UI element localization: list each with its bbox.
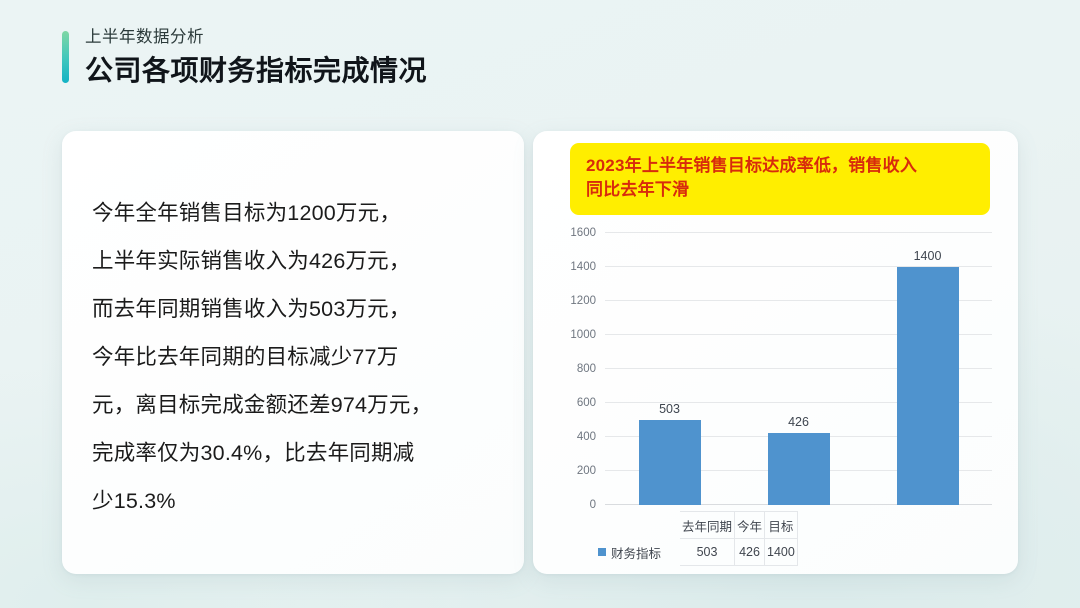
chart-data-table: 去年同期今年目标财务指标5034261400	[595, 511, 798, 566]
y-axis-tick-label: 200	[577, 465, 596, 477]
bar-value-label: 503	[659, 402, 680, 416]
bar-slot: 503	[605, 233, 734, 505]
table-cell: 426	[735, 539, 765, 566]
y-axis-tick-label: 800	[577, 363, 596, 375]
y-axis-tick-label: 1200	[570, 295, 596, 307]
callout-banner: 2023年上半年销售目标达成率低，销售收入 同比去年下滑	[570, 143, 990, 215]
y-axis-tick-label: 1000	[570, 329, 596, 341]
accent-bar-icon	[62, 31, 69, 83]
table-cell: 1400	[765, 539, 798, 566]
page-eyebrow: 上半年数据分析	[85, 28, 427, 48]
chart-plot-area: 02004006008001000120014001600 5034261400	[605, 233, 992, 505]
table-column-header: 今年	[735, 512, 765, 539]
y-axis-tick-label: 400	[577, 431, 596, 443]
y-axis-tick-label: 600	[577, 397, 596, 409]
chart-bars: 5034261400	[605, 233, 992, 505]
chart-card: 2023年上半年销售目标达成率低，销售收入 同比去年下滑 02004006008…	[533, 131, 1018, 574]
table-row: 财务指标5034261400	[596, 539, 798, 566]
y-axis-tick-label: 1400	[570, 261, 596, 273]
page-title: 公司各项财务指标完成情况	[85, 55, 427, 87]
legend-swatch-icon	[598, 548, 606, 556]
table-header-row: 去年同期今年目标	[596, 512, 798, 539]
page-header: 上半年数据分析 公司各项财务指标完成情况	[62, 28, 427, 87]
chart-bar[interactable]	[768, 433, 830, 505]
bar-slot: 1400	[863, 233, 992, 505]
header-text-group: 上半年数据分析 公司各项财务指标完成情况	[85, 28, 427, 87]
table-series-legend[interactable]: 财务指标	[596, 539, 680, 566]
bar-chart: 02004006008001000120014001600 5034261400…	[533, 227, 1018, 574]
bar-slot: 426	[734, 233, 863, 505]
bar-value-label: 1400	[914, 249, 942, 263]
table-cell: 503	[680, 539, 735, 566]
y-axis-tick-label: 1600	[570, 227, 596, 239]
bar-value-label: 426	[788, 415, 809, 429]
table-column-header: 去年同期	[680, 512, 735, 539]
table-column-header: 目标	[765, 512, 798, 539]
summary-text-card: 今年全年销售目标为1200万元， 上半年实际销售收入为426万元， 而去年同期销…	[62, 131, 524, 574]
callout-text: 2023年上半年销售目标达成率低，销售收入 同比去年下滑	[586, 154, 976, 202]
y-axis-tick-label: 0	[590, 499, 596, 511]
summary-body-text: 今年全年销售目标为1200万元， 上半年实际销售收入为426万元， 而去年同期销…	[92, 189, 508, 525]
chart-bar[interactable]	[639, 420, 701, 506]
legend-label: 财务指标	[611, 543, 661, 562]
table-corner-cell	[596, 512, 680, 539]
chart-bar[interactable]	[897, 267, 959, 505]
